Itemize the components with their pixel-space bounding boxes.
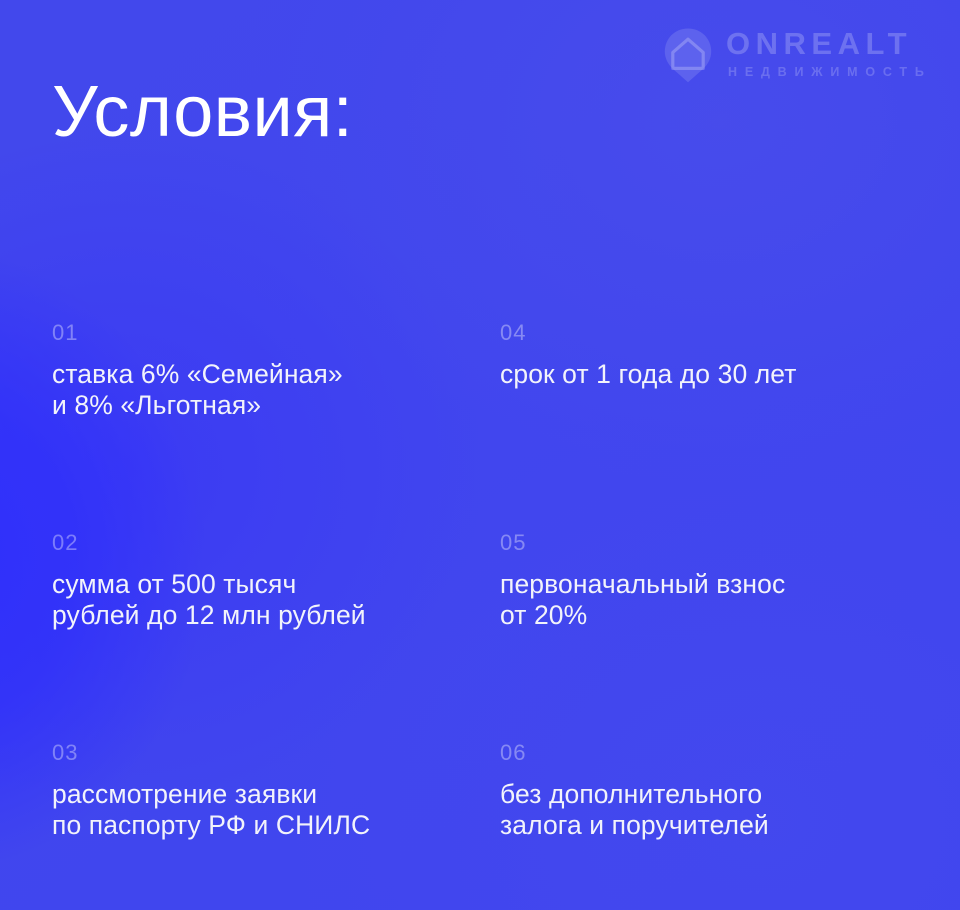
condition-item-06: 06 без дополнительного залога и поручите… (500, 742, 912, 841)
page-title: Условия: (52, 76, 353, 148)
condition-number: 01 (52, 322, 500, 344)
condition-text: без дополнительного залога и поручителей (500, 779, 912, 841)
condition-number: 02 (52, 532, 500, 554)
condition-text: сумма от 500 тысяч рублей до 12 млн рубл… (52, 569, 500, 631)
condition-number: 05 (500, 532, 912, 554)
condition-item-03: 03 рассмотрение заявки по паспорту РФ и … (52, 742, 500, 841)
condition-item-02: 02 сумма от 500 тысяч рублей до 12 млн р… (52, 532, 500, 742)
conditions-grid: 01 ставка 6% «Семейная» и 8% «Льготная» … (52, 322, 912, 841)
condition-item-01: 01 ставка 6% «Семейная» и 8% «Льготная» (52, 322, 500, 532)
condition-text: ставка 6% «Семейная» и 8% «Льготная» (52, 359, 500, 421)
logo-wordmark: ONREALT (726, 28, 932, 59)
condition-text: рассмотрение заявки по паспорту РФ и СНИ… (52, 779, 500, 841)
condition-text: первоначальный взнос от 20% (500, 569, 912, 631)
condition-text: срок от 1 года до 30 лет (500, 359, 912, 390)
condition-item-04: 04 срок от 1 года до 30 лет (500, 322, 912, 532)
condition-item-05: 05 первоначальный взнос от 20% (500, 532, 912, 742)
condition-number: 03 (52, 742, 500, 764)
condition-number: 06 (500, 742, 912, 764)
onrealt-logo: ONREALT НЕДВИЖИМОСТЬ (662, 26, 932, 83)
condition-number: 04 (500, 322, 912, 344)
slide-canvas: ONREALT НЕДВИЖИМОСТЬ Условия: 01 ставка … (0, 0, 960, 910)
map-pin-house-icon (662, 27, 714, 83)
logo-subtitle: НЕДВИЖИМОСТЬ (728, 66, 932, 79)
